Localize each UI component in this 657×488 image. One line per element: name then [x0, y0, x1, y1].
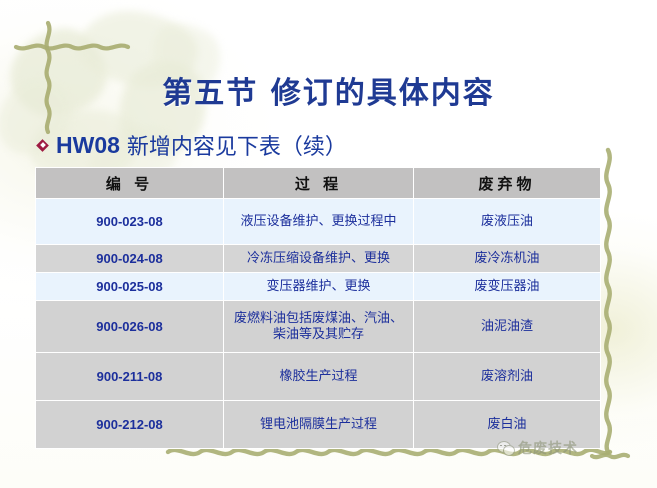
cell-code: 900-023-08 — [36, 199, 224, 245]
cell-process: 冷冻压缩设备维护、更换 — [224, 245, 414, 273]
table-row: 900-026-08 废燃料油包括废煤油、汽油、柴油等及其贮存 油泥油渣 — [36, 301, 601, 353]
cell-process: 液压设备维护、更换过程中 — [224, 199, 414, 245]
watermark: 危废技术 — [497, 438, 578, 458]
cell-process: 锂电池隔膜生产过程 — [224, 401, 414, 449]
watermark-text: 危废技术 — [518, 438, 578, 458]
subtitle-code: HW08 — [56, 132, 120, 159]
column-header-waste: 废弃物 — [414, 168, 601, 199]
cell-waste: 废液压油 — [414, 199, 601, 245]
cell-code: 900-024-08 — [36, 245, 224, 273]
table-row: 900-023-08 液压设备维护、更换过程中 废液压油 — [36, 199, 601, 245]
column-header-process: 过 程 — [224, 168, 414, 199]
page-title: 第五节 修订的具体内容 — [0, 68, 657, 112]
cell-waste: 油泥油渣 — [414, 301, 601, 353]
cell-waste: 废冷冻机油 — [414, 245, 601, 273]
diamond-bullet-icon — [36, 139, 49, 152]
cell-process: 橡胶生产过程 — [224, 353, 414, 401]
table-row: 900-024-08 冷冻压缩设备维护、更换 废冷冻机油 — [36, 245, 601, 273]
table-row: 900-211-08 橡胶生产过程 废溶剂油 — [36, 353, 601, 401]
table-header-row: 编 号 过 程 废弃物 — [36, 168, 601, 199]
cell-code: 900-211-08 — [36, 353, 224, 401]
cell-process: 废燃料油包括废煤油、汽油、柴油等及其贮存 — [224, 301, 414, 353]
cell-code: 900-212-08 — [36, 401, 224, 449]
cell-waste: 废变压器油 — [414, 273, 601, 301]
subtitle-line: HW08 新增内容见下表（续） — [36, 129, 347, 161]
cell-waste: 废溶剂油 — [414, 353, 601, 401]
slide-canvas: 第五节 修订的具体内容 HW08 新增内容见下表（续） 编 号 过 程 废弃物 … — [0, 0, 657, 488]
wechat-icon — [497, 441, 514, 455]
subtitle-text: 新增内容见下表（续） — [127, 129, 347, 161]
cell-process: 变压器维护、更换 — [224, 273, 414, 301]
cell-code: 900-025-08 — [36, 273, 224, 301]
table-row: 900-025-08 变压器维护、更换 废变压器油 — [36, 273, 601, 301]
cell-code: 900-026-08 — [36, 301, 224, 353]
waste-code-table: 编 号 过 程 废弃物 900-023-08 液压设备维护、更换过程中 废液压油… — [35, 167, 601, 449]
column-header-code: 编 号 — [36, 168, 224, 199]
